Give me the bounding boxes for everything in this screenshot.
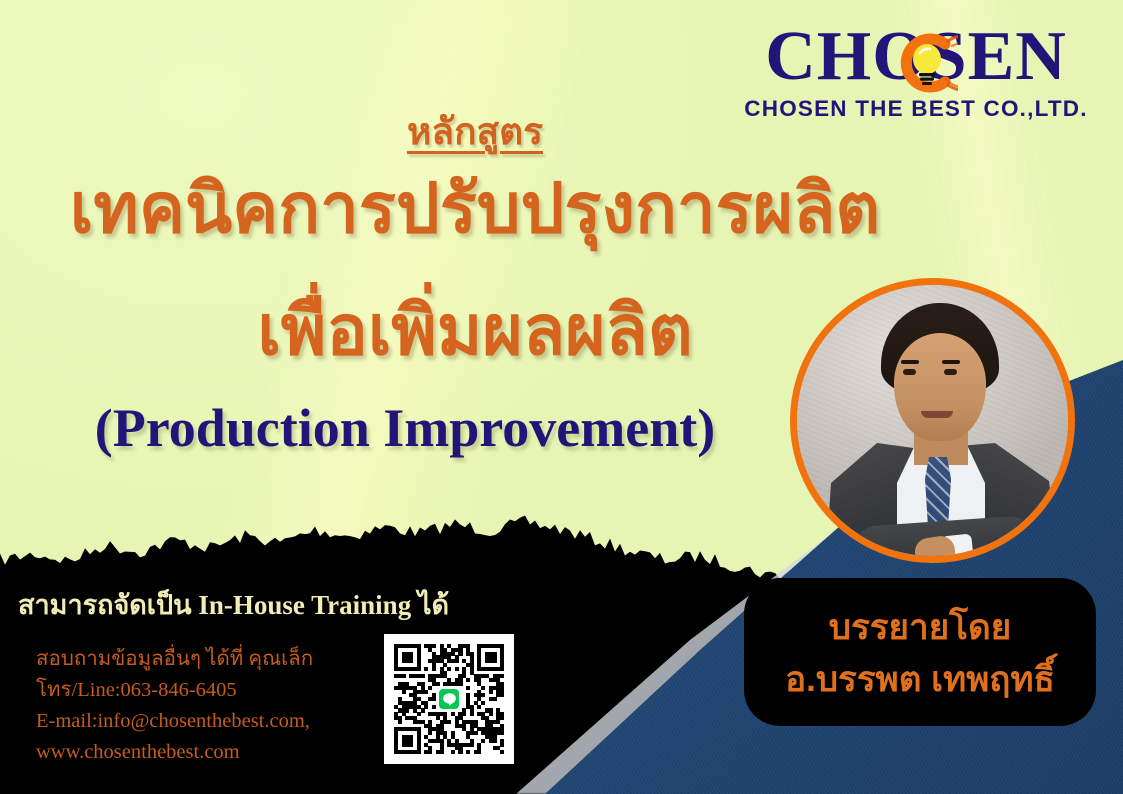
contact-line-3[interactable]: E-mail:info@chosenthebest.com, (36, 706, 313, 737)
course-title-line1: เทคนิคการปรับปรุงการผลิต (0, 168, 950, 250)
lightbulb-icon (896, 32, 958, 94)
portrait-photo (797, 285, 1068, 556)
inhouse-training-note: สามารถจัดเป็น In-House Training ได้ (18, 583, 449, 626)
speaker-name-pill: บรรยายโดย อ.บรรพต เทพฤทธิ์ (744, 578, 1096, 726)
qr-matrix (394, 644, 504, 754)
contact-line-4[interactable]: www.chosenthebest.com (36, 737, 313, 768)
contact-line-2[interactable]: โทร/Line:063-846-6405 (36, 675, 313, 706)
speaker-name: อ.บรรพต เทพฤทธิ์ (744, 652, 1096, 707)
contact-line-1: สอบถามข้อมูลอื่นๆ ได้ที่ คุณเล็ก (36, 644, 313, 675)
contact-block: สอบถามข้อมูลอื่นๆ ได้ที่ คุณเล็ก โทร/Lin… (36, 644, 313, 768)
speaker-portrait (790, 278, 1075, 563)
course-kicker: หลักสูตร (0, 102, 950, 161)
poster-canvas: CHOSEN CHOSEN THE BEST CO.,LTD. หลักสูตร… (0, 0, 1123, 794)
speaker-prefix: บรรยายโดย (744, 600, 1096, 655)
line-qr-code[interactable] (384, 634, 514, 764)
line-chat-icon (436, 686, 462, 712)
course-subtitle-english: (Production Improvement) (0, 397, 810, 459)
